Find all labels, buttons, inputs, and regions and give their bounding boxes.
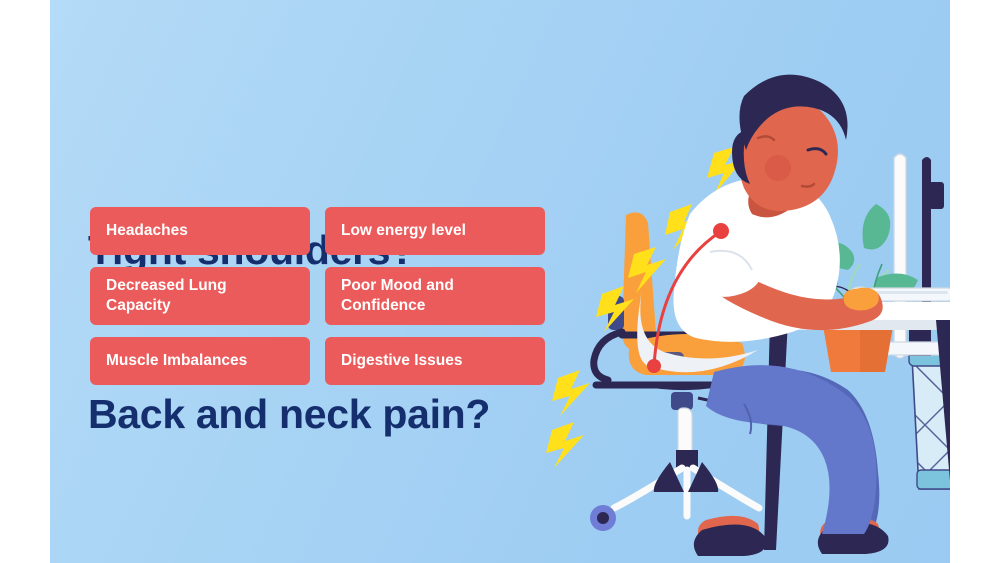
symptom-tag-grid: Headaches Low energy level Decreased Lun… [90,207,560,397]
tag-decreased-lung-capacity[interactable]: Decreased Lung Capacity [90,267,310,325]
tag-row: Headaches Low energy level [90,207,560,255]
shoe-front [694,525,767,556]
desk-posture-illustration [530,0,950,563]
tag-row: Decreased Lung Capacity Poor Mood and Co… [90,267,560,325]
tag-low-energy-level[interactable]: Low energy level [325,207,545,255]
blue-panel: Tight shoulders? Back and neck pain? Hea… [50,0,950,563]
tag-digestive-issues[interactable]: Digestive Issues [325,337,545,385]
pain-dot-shoulder [713,223,729,239]
hand [844,288,879,311]
tag-row: Muscle Imbalances Digestive Issues [90,337,560,385]
infographic-canvas: Tight shoulders? Back and neck pain? Hea… [0,0,1000,563]
tag-muscle-imbalances[interactable]: Muscle Imbalances [90,337,310,385]
pain-dot-lowerback [647,359,661,373]
tag-poor-mood-and-confidence[interactable]: Poor Mood and Confidence [325,267,545,325]
leg-front [706,365,876,534]
tag-headaches[interactable]: Headaches [90,207,310,255]
